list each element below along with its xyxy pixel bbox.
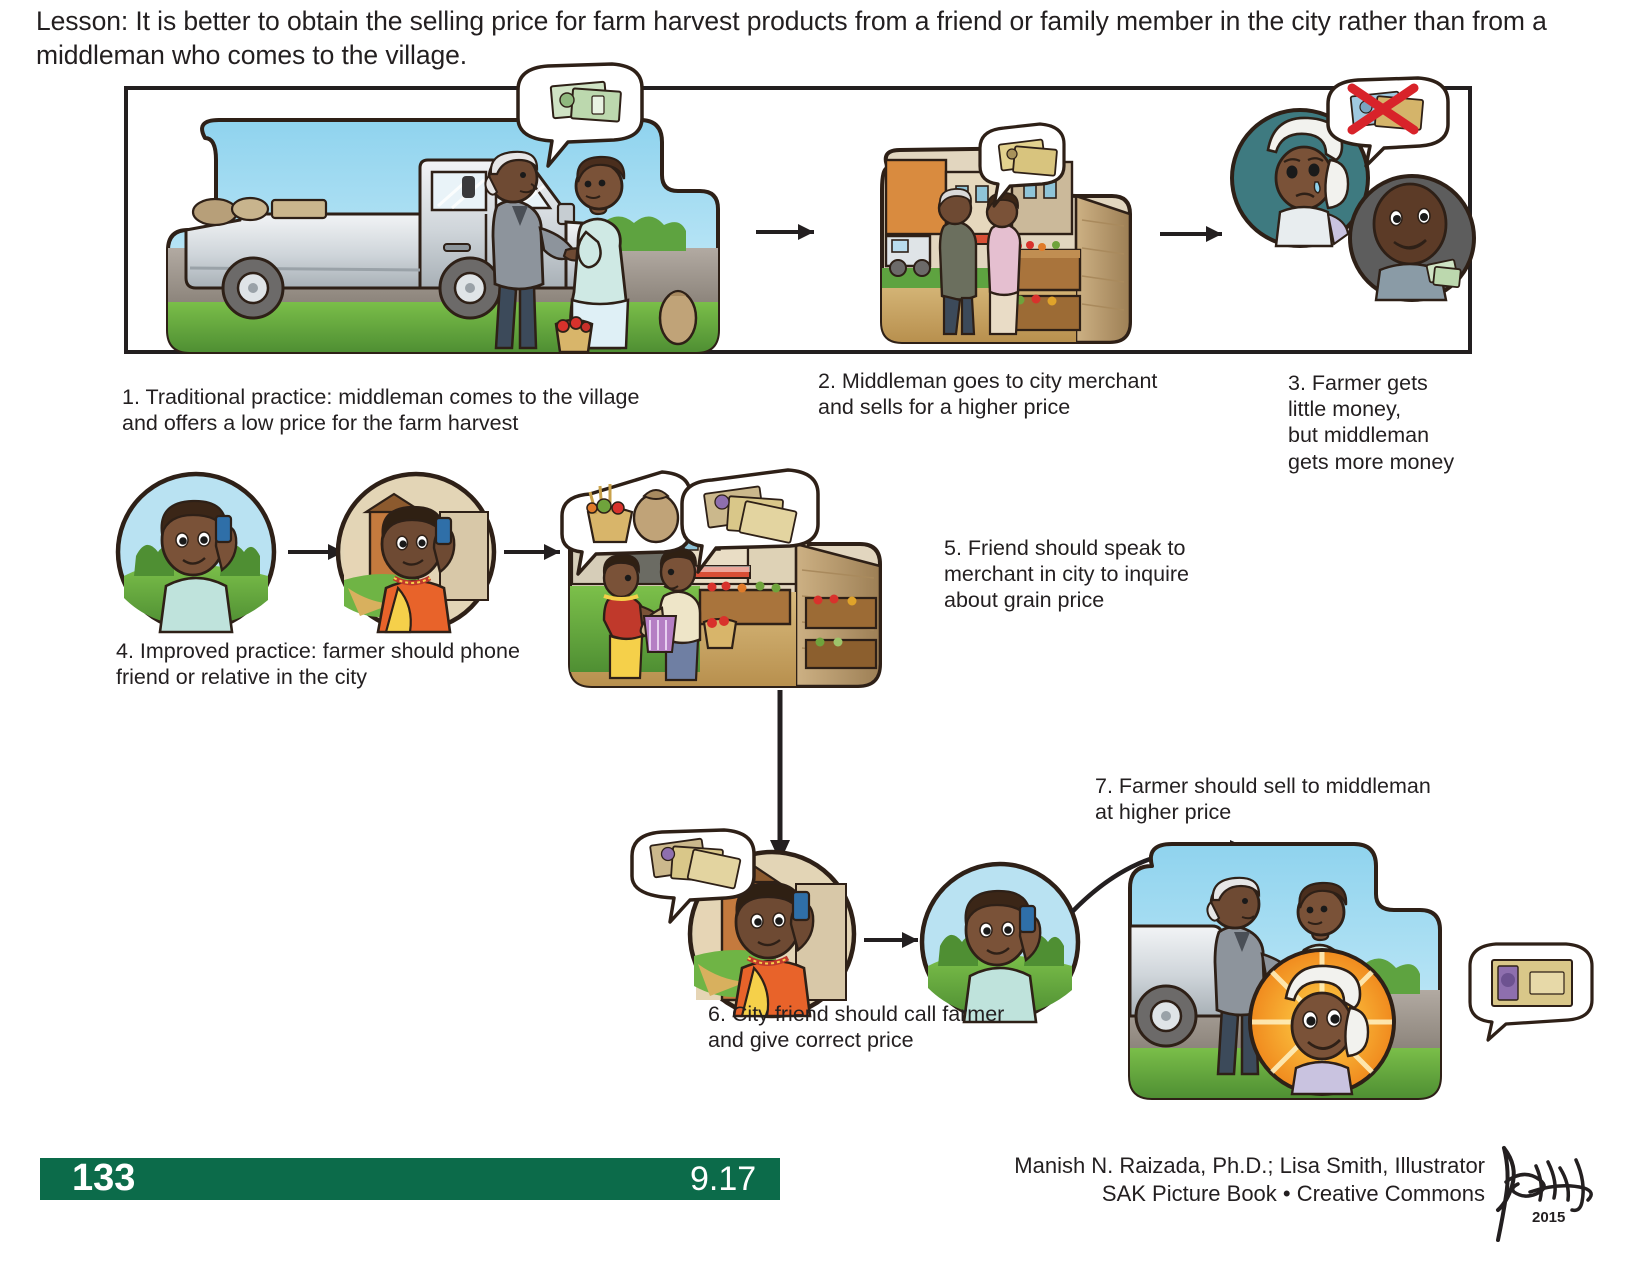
farmer-woman-figure bbox=[556, 157, 628, 352]
caption-panel-4: 4. Improved practice: farmer should phon… bbox=[116, 638, 546, 690]
caption-panel-3: 3. Farmer gets little money, but middlem… bbox=[1288, 370, 1508, 475]
happy-farmer-circle bbox=[1250, 950, 1394, 1094]
arrow-1-to-2 bbox=[756, 224, 814, 240]
page-number: 133 bbox=[72, 1157, 135, 1200]
page-title: Lesson: It is better to obtain the selli… bbox=[36, 4, 1626, 73]
signature-svg: 2015 bbox=[1490, 1140, 1610, 1250]
crossed-money-bubble bbox=[1328, 78, 1448, 166]
panel-5-illustration bbox=[562, 470, 880, 686]
pickup-truck-icon bbox=[186, 160, 608, 318]
arrow-2-to-3 bbox=[1160, 226, 1222, 242]
produce-thought-bubble bbox=[562, 472, 690, 574]
middleman-figure bbox=[485, 152, 587, 348]
caption-panel-5: 5. Friend should speak to merchant in ci… bbox=[944, 535, 1224, 614]
row1-frame bbox=[126, 88, 1470, 352]
caption-panel-2: 2. Middleman goes to city merchant and s… bbox=[818, 368, 1178, 420]
money-thought-bubble-5 bbox=[682, 470, 818, 572]
panel-6-illustration bbox=[632, 830, 1078, 1022]
panel-1-illustration bbox=[168, 64, 718, 352]
signature-year: 2015 bbox=[1532, 1209, 1565, 1226]
panel-4-illustration bbox=[118, 474, 560, 632]
arrow-5-to-6 bbox=[770, 690, 790, 862]
credit-line-authors: Manish N. Raizada, Ph.D.; Lisa Smith, Il… bbox=[975, 1152, 1485, 1180]
footer-green-bar bbox=[40, 1158, 780, 1200]
section-number: 9.17 bbox=[690, 1160, 756, 1199]
caption-panel-7: 7. Farmer should sell to middleman at hi… bbox=[1095, 773, 1495, 825]
caption-panel-6: 6. City friend should call farmer and gi… bbox=[708, 1001, 1088, 1053]
money-speech-bubble-7 bbox=[1470, 944, 1592, 1040]
panel-7-illustration bbox=[1130, 844, 1592, 1098]
credits-block: Manish N. Raizada, Ph.D.; Lisa Smith, Il… bbox=[975, 1152, 1485, 1208]
caption-panel-1: 1. Traditional practice: middleman comes… bbox=[122, 384, 742, 436]
arrow-6-to-7 bbox=[1072, 840, 1252, 912]
illustrator-signature: 2015 bbox=[1490, 1140, 1610, 1250]
money-thought-bubble-6 bbox=[632, 830, 754, 922]
panel-2-illustration bbox=[882, 124, 1130, 342]
money-speech-bubble-1 bbox=[518, 64, 642, 166]
credit-line-book: SAK Picture Book • Creative Commons bbox=[975, 1180, 1485, 1208]
money-speech-bubble-2 bbox=[980, 124, 1064, 206]
panel-3-illustration bbox=[1232, 78, 1474, 300]
